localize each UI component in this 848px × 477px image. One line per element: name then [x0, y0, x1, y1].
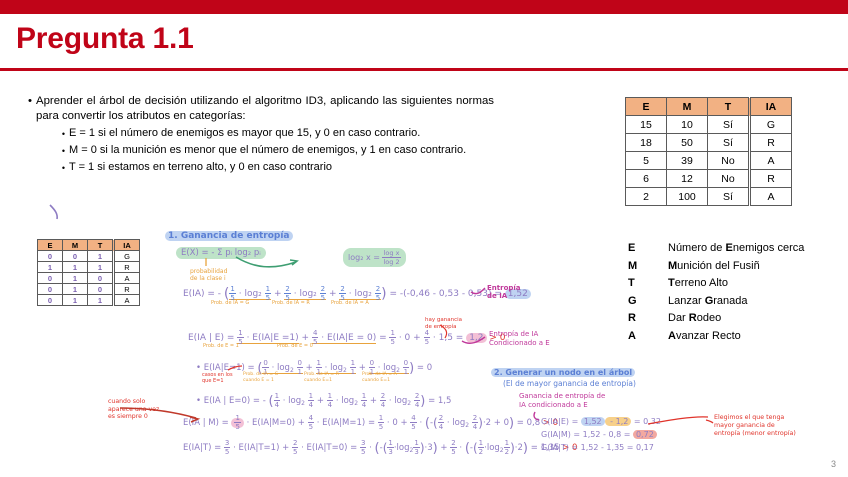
cell-e: 18	[626, 134, 667, 152]
cell-ia: A	[750, 152, 792, 170]
cell-e: 0	[38, 295, 63, 306]
cell-m: 1	[63, 295, 88, 306]
table-row: 15 10 Sí G	[626, 116, 792, 134]
page-number: 3	[831, 459, 836, 469]
note-eiae1-under-g: Prob. de IA = G cuando E = 1	[243, 372, 278, 383]
table-row: 1 1 1 R	[38, 262, 140, 273]
cell-t: Sí	[708, 116, 750, 134]
legend-item-r: R Dar Rodeo	[628, 310, 804, 328]
note-eiae-under-1: Prob. de E = 1	[203, 343, 239, 349]
cell-e: 1	[38, 262, 63, 273]
note-step2-title: 2. Generar un nodo en el árbol	[491, 368, 635, 377]
table-row: 0 0 1 G	[38, 251, 140, 262]
col-header-e: E	[626, 98, 667, 116]
note-cuando-solo: cuando solo aparece una vez es siempre 0	[108, 398, 159, 421]
legend-key: M	[628, 258, 668, 276]
cell-m: 1	[63, 284, 88, 295]
legend-item-t: T Terreno Alto	[628, 275, 804, 293]
cell-ia: G	[114, 251, 140, 262]
note-eia-callout: Entropía de IA	[487, 284, 521, 300]
col-header-ia: IA	[114, 240, 140, 251]
legend-desc: Munición del Fusiñ	[668, 258, 760, 276]
note-gain-e: G(IA|E) = 1,52 - 1,2 = 0,32	[541, 417, 661, 426]
cell-m: 100	[667, 188, 708, 206]
note-eia-under-r: Prob. de IA = R	[272, 300, 310, 306]
note-step1-title: 1. Ganancia de entropía	[165, 231, 293, 241]
cell-e: 15	[626, 116, 667, 134]
cell-e: 0	[38, 251, 63, 262]
bullet-level1: • Aprender el árbol de decisión utilizan…	[24, 94, 494, 124]
title-underline-rule	[0, 68, 848, 71]
cell-ia: R	[114, 284, 140, 295]
col-header-t: T	[708, 98, 750, 116]
stroke-bracket-t	[50, 205, 57, 219]
legend-key: A	[628, 328, 668, 346]
main-data-table: E M T IA 15 10 Sí G 18 50 Sí R 5 39 No A…	[625, 97, 792, 206]
note-eia-under-a: Prob. de IA = A	[331, 300, 369, 306]
note-eiae-callout: Entropía de IA Condicionado a E	[489, 330, 550, 347]
bullet-level2-e: • E = 1 si el número de enemigos es mayo…	[58, 126, 494, 142]
bullet-level2-m-text: M = 0 si la munición es menor que el núm…	[69, 143, 494, 159]
cell-t: 1	[88, 251, 114, 262]
note-gain-m: G(IA|M) = 1,52 - 0,8 = 0,72	[541, 430, 657, 439]
table-row: 0 1 0 A	[38, 273, 140, 284]
bullet-level2-e-text: E = 1 si el número de enemigos es mayor …	[69, 126, 494, 142]
cell-t: Sí	[708, 134, 750, 152]
binary-data-table: E M T IA 0 0 1 G 1 1 1 R 0 1 0 A 0 1 0 R…	[37, 239, 140, 306]
table-row: 18 50 Sí R	[626, 134, 792, 152]
cell-t: 1	[88, 295, 114, 306]
legend-list: E Número de Enemigos cerca M Munición de…	[628, 240, 804, 345]
note-eiam-line: E(IA | M) = 15 · E(IA|M=0) + 45 · E(IA|M…	[183, 414, 558, 431]
note-eia-under-g: Prob. de IA = G	[211, 300, 249, 306]
note-eiat-line: E(IA|T) = 35 · E(IA|T=1) + 25 · E(IA|T=0…	[183, 439, 577, 456]
legend-key: G	[628, 293, 668, 311]
legend-desc: Número de Enemigos cerca	[668, 240, 804, 258]
cell-t: No	[708, 170, 750, 188]
col-header-t: T	[88, 240, 114, 251]
cell-ia: A	[114, 295, 140, 306]
legend-item-a: A Avanzar Recto	[628, 328, 804, 346]
cell-e: 5	[626, 152, 667, 170]
cell-e: 6	[626, 170, 667, 188]
cell-ia: A	[750, 188, 792, 206]
cell-m: 12	[667, 170, 708, 188]
cell-e: 0	[38, 273, 63, 284]
table-row: 0 1 1 A	[38, 295, 140, 306]
bullet-level2-t: • T = 1 si estamos en terreno alto, y 0 …	[58, 160, 494, 176]
note-eiae-under-0: Prob. de E = 0	[277, 343, 313, 349]
cell-ia: G	[750, 116, 792, 134]
note-gain-t: G(IA|T) = 1,52 - 1,35 = 0,17	[541, 443, 654, 452]
bullet-level2-m: • M = 0 si la munición es menor que el n…	[58, 143, 494, 159]
cell-t: 1	[88, 262, 114, 273]
table-row: 2 100 Sí A	[626, 188, 792, 206]
bullet-dot-icon: •	[58, 160, 69, 176]
arrow-elegimos	[706, 420, 713, 423]
bullet-level2-t-text: T = 1 si estamos en terreno alto, y 0 en…	[69, 160, 494, 176]
legend-key: T	[628, 275, 668, 293]
page-title: Pregunta 1.1	[16, 22, 194, 56]
col-header-m: M	[667, 98, 708, 116]
cell-m: 1	[63, 262, 88, 273]
note-casos: casos en los que E=1	[202, 372, 233, 384]
legend-item-m: M Munición del Fusiñ	[628, 258, 804, 276]
table-header-row: E M T IA	[38, 240, 140, 251]
cell-ia: A	[114, 273, 140, 284]
legend-key: R	[628, 310, 668, 328]
bullet-list: • Aprender el árbol de decisión utilizan…	[24, 94, 494, 177]
cell-ia: R	[750, 134, 792, 152]
note-step2-sub: (El de mayor ganancia de entropía)	[503, 379, 636, 388]
col-header-ia: IA	[750, 98, 792, 116]
cell-t: 0	[88, 273, 114, 284]
bullet-dot-icon: •	[58, 126, 69, 142]
note-prob-label: probabilidad de la clase i	[190, 268, 227, 282]
cell-e: 2	[626, 188, 667, 206]
legend-desc: Dar Rodeo	[668, 310, 721, 328]
legend-item-e: E Número de Enemigos cerca	[628, 240, 804, 258]
legend-desc: Lanzar Granada	[668, 293, 748, 311]
arrowhead-logbase	[290, 260, 297, 265]
cell-ia: R	[750, 170, 792, 188]
bullet-dot-icon: •	[24, 94, 36, 124]
cell-m: 39	[667, 152, 708, 170]
note-elegimos: Elegimos el que tenga mayor ganancia de …	[714, 414, 796, 438]
note-eiae1-under-r: Prob. de IA = R cuando E=1	[304, 372, 339, 383]
cell-t: Sí	[708, 188, 750, 206]
note-hay-ganancia: hay ganancia de entropía	[425, 317, 462, 330]
cell-m: 1	[63, 273, 88, 284]
note-gain-title: Ganancia de entropía de IA condicionado …	[519, 392, 605, 409]
legend-item-g: G Lanzar Granada	[628, 293, 804, 311]
col-header-e: E	[38, 240, 63, 251]
note-eiae0-line: • E(IA | E=0) = - (14 · log2 14 + 14 · l…	[196, 392, 451, 409]
cell-e: 0	[38, 284, 63, 295]
bullet-dot-icon: •	[58, 143, 69, 159]
legend-key: E	[628, 240, 668, 258]
table-row: 0 1 0 R	[38, 284, 140, 295]
table-row: 5 39 No A	[626, 152, 792, 170]
bullet-level1-text: Aprender el árbol de decisión utilizando…	[36, 94, 494, 124]
col-header-m: M	[63, 240, 88, 251]
cell-ia: R	[114, 262, 140, 273]
note-eiae1-under-a: Prob. de IA = A cuando E=1	[362, 372, 397, 383]
table-header-row: E M T IA	[626, 98, 792, 116]
cell-t: No	[708, 152, 750, 170]
note-logbase-formula: log₂ x = log xlog 2	[343, 248, 406, 267]
cell-m: 10	[667, 116, 708, 134]
note-entropy-formula: E(X) = - Σ pᵢ log₂ pᵢ	[176, 247, 266, 259]
table-row: 6 12 No R	[626, 170, 792, 188]
legend-desc: Avanzar Recto	[668, 328, 741, 346]
cell-t: 0	[88, 284, 114, 295]
cell-m: 50	[667, 134, 708, 152]
cell-m: 0	[63, 251, 88, 262]
header-accent-bar	[0, 0, 848, 14]
legend-desc: Terreno Alto	[668, 275, 728, 293]
